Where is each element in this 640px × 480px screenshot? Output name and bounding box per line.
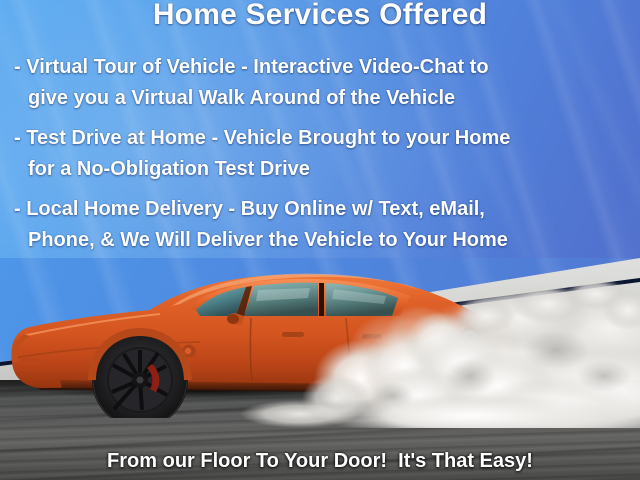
service-item-3-line-2: Phone, & We Will Deliver the Vehicle to … (0, 225, 640, 256)
service-item-2: - Test Drive at Home - Vehicle Brought t… (0, 123, 640, 185)
service-item-3-line-1: - Local Home Delivery - Buy Online w/ Te… (0, 194, 640, 225)
tire-smoke (0, 258, 640, 428)
page-title: Home Services Offered (0, 0, 640, 32)
promo-banner: Home Services Offered - Virtual Tour of … (0, 0, 640, 480)
footer-tagline: From our Floor To Your Door! It's That E… (0, 450, 640, 473)
service-item-1-line-1: - Virtual Tour of Vehicle - Interactive … (0, 52, 640, 83)
service-item-1-line-2: give you a Virtual Walk Around of the Ve… (0, 83, 640, 114)
services-list: - Virtual Tour of Vehicle - Interactive … (0, 52, 640, 265)
service-item-2-line-2: for a No-Obligation Test Drive (0, 154, 640, 185)
service-item-3: - Local Home Delivery - Buy Online w/ Te… (0, 194, 640, 256)
service-item-2-line-1: - Test Drive at Home - Vehicle Brought t… (0, 123, 640, 154)
service-item-1: - Virtual Tour of Vehicle - Interactive … (0, 52, 640, 114)
